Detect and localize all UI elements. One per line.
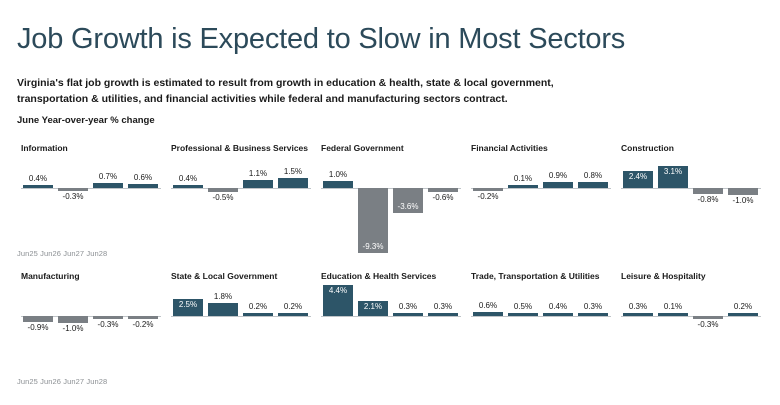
bar (428, 188, 458, 192)
x-axis-labels-row-top: Jun25 Jun26 Jun27 Jun28 (17, 249, 107, 258)
chart-panel: Construction2.4%3.1%-0.8%-1.0% (617, 140, 767, 268)
bar (578, 313, 608, 316)
chart-plot-area: 0.3%0.1%-0.3%0.2% (621, 286, 761, 394)
bar (278, 313, 308, 316)
chart-panel-title: Leisure & Hospitality (621, 271, 706, 281)
zero-axis-line (621, 316, 761, 317)
bar-value-label: -3.6% (386, 202, 430, 211)
bar-value-label: 0.2% (721, 302, 765, 311)
bar (543, 313, 573, 316)
chart-panel-title: Financial Activities (471, 143, 548, 153)
chart-panel-title: Information (21, 143, 68, 153)
bar (393, 313, 423, 316)
bar-value-label: 0.3% (421, 302, 465, 311)
bar (728, 188, 758, 195)
bar-value-label: 0.2% (271, 302, 315, 311)
bar-value-label: 0.8% (571, 171, 615, 180)
bar (93, 316, 123, 319)
bar (578, 182, 608, 188)
bar-value-label: -0.5% (201, 193, 245, 202)
zero-axis-line (321, 316, 461, 317)
bar (728, 313, 758, 316)
chart-panel: Financial Activities-0.2%0.1%0.9%0.8% (467, 140, 617, 268)
chart-panel: Professional & Business Services0.4%-0.5… (167, 140, 317, 268)
bar-value-label: -0.6% (421, 193, 465, 202)
bar (128, 184, 158, 188)
bar (243, 313, 273, 316)
chart-row-top: Information0.4%-0.3%0.7%0.6%Professional… (0, 140, 780, 268)
bar (473, 312, 503, 316)
bar-value-label: 4.4% (316, 286, 360, 295)
infographic-page: Job Growth is Expected to Slow in Most S… (0, 0, 780, 405)
chart-row-bottom: Manufacturing-0.9%-1.0%-0.3%-0.2%State &… (0, 268, 780, 396)
chart-plot-area: 2.4%3.1%-0.8%-1.0% (621, 158, 761, 266)
bar (323, 181, 353, 188)
chart-plot-area: 1.0%-9.3%-3.6%-0.6% (321, 158, 461, 266)
bar-value-label: -0.3% (686, 320, 730, 329)
bar (173, 185, 203, 188)
bar (243, 180, 273, 188)
chart-panel-title: Education & Health Services (321, 271, 436, 281)
bar (93, 183, 123, 188)
chart-panel-title: Trade, Transportation & Utilities (471, 271, 599, 281)
bar (658, 313, 688, 316)
chart-plot-area: 2.5%1.8%0.2%0.2% (171, 286, 311, 394)
chart-panel: Leisure & Hospitality0.3%0.1%-0.3%0.2% (617, 268, 767, 396)
bar-value-label: -1.0% (721, 196, 765, 205)
bar (23, 316, 53, 322)
chart-panel-title: State & Local Government (171, 271, 277, 281)
zero-axis-line (21, 188, 161, 189)
bar-value-label: 0.3% (571, 302, 615, 311)
bar (128, 316, 158, 319)
chart-plot-area: -0.2%0.1%0.9%0.8% (471, 158, 611, 266)
bar-value-label: 0.4% (16, 174, 60, 183)
chart-panel-title: Manufacturing (21, 271, 80, 281)
chart-panel-title: Federal Government (321, 143, 404, 153)
bar-value-label: -0.2% (466, 192, 510, 201)
bar-value-label: 0.4% (166, 174, 210, 183)
bar (208, 188, 238, 192)
page-subtitle: Virginia's flat job growth is estimated … (17, 76, 617, 107)
chart-panel: Federal Government1.0%-9.3%-3.6%-0.6% (317, 140, 467, 268)
page-title: Job Growth is Expected to Slow in Most S… (17, 21, 625, 57)
bar (543, 182, 573, 188)
bar (508, 185, 538, 188)
small-multiples-grid: Information0.4%-0.3%0.7%0.6%Professional… (0, 140, 780, 396)
chart-panel: Education & Health Services4.4%2.1%0.3%0… (317, 268, 467, 396)
bar (208, 303, 238, 316)
bar-value-label: -9.3% (351, 242, 395, 251)
chart-panel: State & Local Government2.5%1.8%0.2%0.2% (167, 268, 317, 396)
bar (428, 313, 458, 316)
chart-panel-title: Professional & Business Services (171, 143, 308, 153)
bar-value-label: 1.5% (271, 167, 315, 176)
bar-value-label: -0.3% (51, 192, 95, 201)
bar (278, 178, 308, 189)
chart-panel-title: Construction (621, 143, 674, 153)
bar-value-label: 1.8% (201, 292, 245, 301)
zero-axis-line (171, 188, 311, 189)
bar (23, 185, 53, 188)
bar-value-label: 0.6% (121, 173, 165, 182)
bar-value-label: -0.2% (121, 320, 165, 329)
bar (508, 313, 538, 317)
bar-value-label: 1.0% (316, 170, 360, 179)
x-axis-labels-row-bottom: Jun25 Jun26 Jun27 Jun28 (17, 377, 107, 386)
chart-plot-area: 0.6%0.5%0.4%0.3% (471, 286, 611, 394)
bar (473, 188, 503, 191)
bar-value-label: 3.1% (651, 167, 695, 176)
bar (623, 313, 653, 316)
bar (693, 188, 723, 194)
bar-value-label: 0.1% (651, 302, 695, 311)
chart-panel: Trade, Transportation & Utilities0.6%0.5… (467, 268, 617, 396)
bar (58, 188, 88, 191)
zero-axis-line (471, 316, 611, 317)
bar (693, 316, 723, 319)
metric-kicker: June Year-over-year % change (17, 115, 155, 126)
bar (58, 316, 88, 323)
zero-axis-line (171, 316, 311, 317)
chart-plot-area: 0.4%-0.5%1.1%1.5% (171, 158, 311, 266)
chart-plot-area: 4.4%2.1%0.3%0.3% (321, 286, 461, 394)
